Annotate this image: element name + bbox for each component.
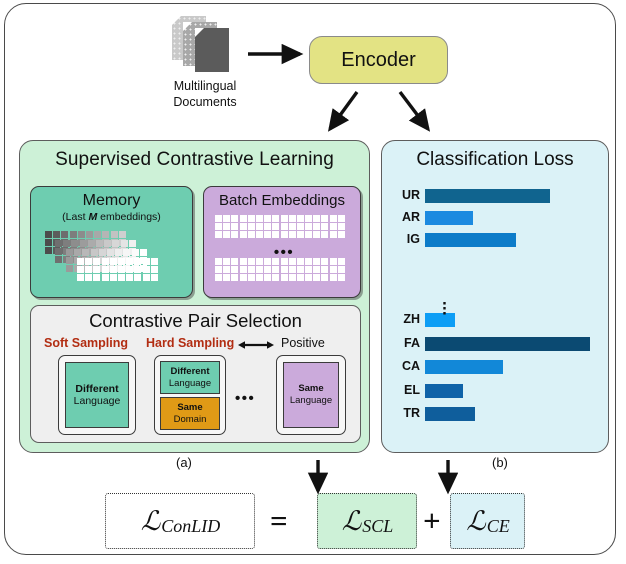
hard-different-language-card: Different Language <box>160 361 220 394</box>
bar-ur <box>425 189 550 203</box>
hard-card1-line1: Same <box>177 402 202 414</box>
supervised-contrastive-learning-panel: Supervised Contrastive Learning Memory (… <box>19 140 370 453</box>
bar-row: IG <box>382 231 610 248</box>
hard-card0-line2: Language <box>169 378 211 390</box>
encoder-box: Encoder <box>309 36 448 84</box>
scl-panel-title: Supervised Contrastive Learning <box>20 149 369 171</box>
encoder-label: Encoder <box>341 49 416 72</box>
memory-embedding-grid <box>45 231 195 293</box>
bar-row: UR <box>382 187 610 204</box>
bar-label-ca: CA <box>382 358 420 375</box>
positive-slot: Same Language <box>276 355 346 435</box>
bar-row: AR <box>382 209 610 226</box>
total-loss-subscript: ConLID <box>161 516 220 537</box>
contrastive-pair-selection-box: Contrastive Pair Selection Soft Sampling… <box>30 305 361 443</box>
memory-box: Memory (Last M embeddings) <box>30 186 193 298</box>
caption-a: (a) <box>176 455 192 470</box>
batch-embeddings-title: Batch Embeddings <box>204 192 360 209</box>
classification-loss-panel: Classification Loss URARIGZHFACAELTR ··· <box>381 140 609 453</box>
memory-title: Memory <box>31 192 192 210</box>
bar-el <box>425 384 463 398</box>
soft-sampling-slot: Different Language <box>58 355 136 435</box>
documents-label: Multilingual Documents <box>140 78 270 110</box>
soft-card-line2: Language <box>74 395 121 407</box>
bar-row: CA <box>382 358 610 375</box>
total-loss-box: ℒConLID <box>105 493 255 549</box>
bar-ig <box>425 233 516 247</box>
scl-loss-box: ℒSCL <box>317 493 417 549</box>
hard-sampling-slot: Different Language Same Domain <box>154 355 226 435</box>
scl-loss-subscript: SCL <box>362 516 393 537</box>
bar-row: FA <box>382 335 610 352</box>
positive-card-line1: Same <box>298 383 323 395</box>
ce-loss-symbol: ℒ <box>466 506 485 537</box>
equals-sign: = <box>270 493 288 549</box>
positive-card-line2: Language <box>290 395 332 407</box>
bar-row: EL <box>382 382 610 399</box>
figure-root: Multilingual Documents Encoder Supervise… <box>0 0 626 564</box>
ce-loss-box: ℒCE <box>450 493 525 549</box>
batch-embeddings-box: Batch Embeddings ••• <box>203 186 361 298</box>
loss-equation: ℒConLID = ℒSCL + ℒCE <box>105 493 525 555</box>
cps-ellipsis: ••• <box>235 390 255 407</box>
bar-label-ig: IG <box>382 231 420 248</box>
soft-different-language-card: Different Language <box>65 362 129 428</box>
bar-label-el: EL <box>382 382 420 399</box>
ce-loss-subscript: CE <box>487 516 510 537</box>
batch-ellipsis: ••• <box>215 248 353 258</box>
hard-card0-line1: Different <box>170 366 209 378</box>
bar-ar <box>425 211 473 225</box>
total-loss-symbol: ℒ <box>141 506 160 537</box>
cps-title: Contrastive Pair Selection <box>31 310 360 332</box>
bar-label-fa: FA <box>382 335 420 352</box>
positive-heading: Positive <box>281 336 325 350</box>
bar-row: ZH <box>382 311 610 328</box>
batch-embedding-sheet <box>215 215 345 238</box>
bar-row: TR <box>382 405 610 422</box>
batch-embedding-sheet <box>215 258 345 281</box>
batch-embedding-grid: ••• <box>215 215 353 291</box>
memory-embedding-sheet <box>77 258 158 281</box>
bar-label-tr: TR <box>382 405 420 422</box>
hard-sampling-heading: Hard Sampling <box>146 336 234 350</box>
memory-subtitle: (Last M embeddings) <box>31 211 192 223</box>
soft-sampling-heading: Soft Sampling <box>44 336 128 350</box>
bar-label-ur: UR <box>382 187 420 204</box>
cps-headings: Soft Sampling Hard Sampling Positive <box>31 336 362 353</box>
bar-ca <box>425 360 503 374</box>
classification-loss-title: Classification Loss <box>382 149 608 171</box>
bar-tr <box>425 407 475 421</box>
positive-same-language-card: Same Language <box>283 362 339 428</box>
caption-b: (b) <box>492 455 508 470</box>
bar-label-zh: ZH <box>382 311 420 328</box>
hard-card1-line2: Domain <box>174 414 207 426</box>
scl-loss-symbol: ℒ <box>342 506 361 537</box>
bar-chart-vertical-ellipsis: ··· <box>440 301 450 316</box>
plus-sign: + <box>423 493 441 549</box>
bar-label-ar: AR <box>382 209 420 226</box>
soft-card-line1: Different <box>75 383 118 395</box>
double-arrow-icon <box>238 338 274 352</box>
bar-fa <box>425 337 590 351</box>
documents-stack-icon <box>172 16 238 74</box>
hard-same-domain-card: Same Domain <box>160 397 220 430</box>
